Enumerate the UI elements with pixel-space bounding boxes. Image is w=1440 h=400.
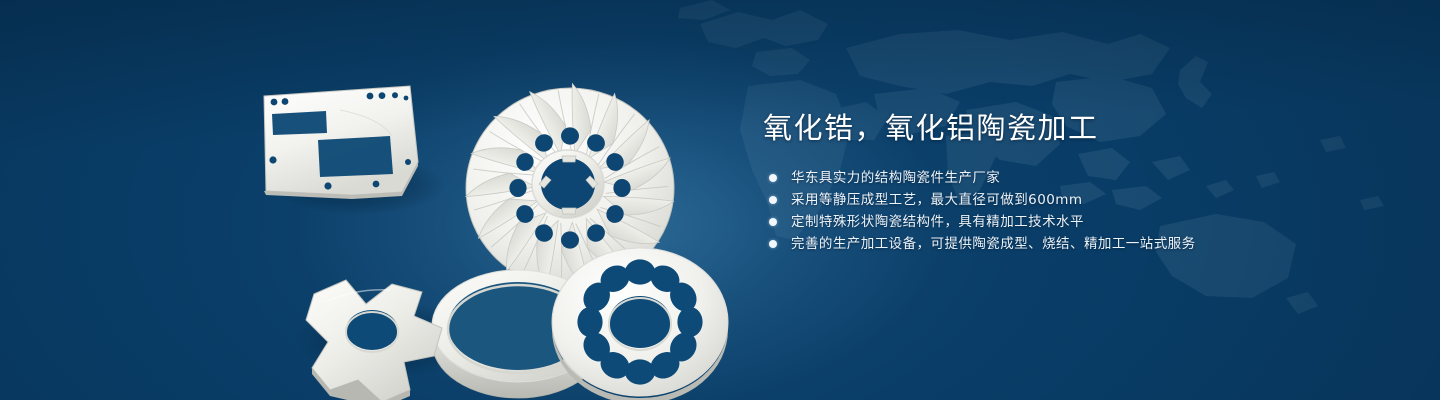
bullet-dot-icon [769, 174, 777, 182]
list-item: 完善的生产加工设备，可提供陶瓷成型、烧结、精加工一站式服务 [769, 236, 1383, 252]
ceramic-flat-plate [264, 86, 418, 199]
feature-text: 华东具实力的结构陶瓷件生产厂家 [791, 170, 1000, 186]
banner-headline: 氧化锆，氧化铝陶瓷加工 [763, 108, 1383, 148]
feature-text: 采用等静压成型工艺，最大直径可做到600mm [791, 192, 1082, 208]
ceramic-cross-part [306, 280, 442, 400]
ceramic-perforated-disc [552, 248, 728, 400]
feature-text: 定制特殊形状陶瓷结构件，具有精加工技术水平 [791, 214, 1084, 230]
banner-copy: 氧化锆，氧化铝陶瓷加工 华东具实力的结构陶瓷件生产厂家 采用等静压成型工艺，最大… [763, 108, 1383, 252]
feature-text: 完善的生产加工设备，可提供陶瓷成型、烧结、精加工一站式服务 [791, 236, 1196, 252]
bullet-dot-icon [769, 196, 777, 204]
list-item: 华东具实力的结构陶瓷件生产厂家 [769, 170, 1383, 186]
bullet-dot-icon [769, 218, 777, 226]
list-item: 定制特殊形状陶瓷结构件，具有精加工技术水平 [769, 214, 1383, 230]
ceramic-products-image [240, 40, 730, 390]
list-item: 采用等静压成型工艺，最大直径可做到600mm [769, 192, 1383, 208]
bullet-dot-icon [769, 240, 777, 248]
ceramic-processing-banner: 氧化锆，氧化铝陶瓷加工 华东具实力的结构陶瓷件生产厂家 采用等静压成型工艺，最大… [0, 0, 1440, 400]
feature-list: 华东具实力的结构陶瓷件生产厂家 采用等静压成型工艺，最大直径可做到600mm 定… [769, 170, 1383, 252]
